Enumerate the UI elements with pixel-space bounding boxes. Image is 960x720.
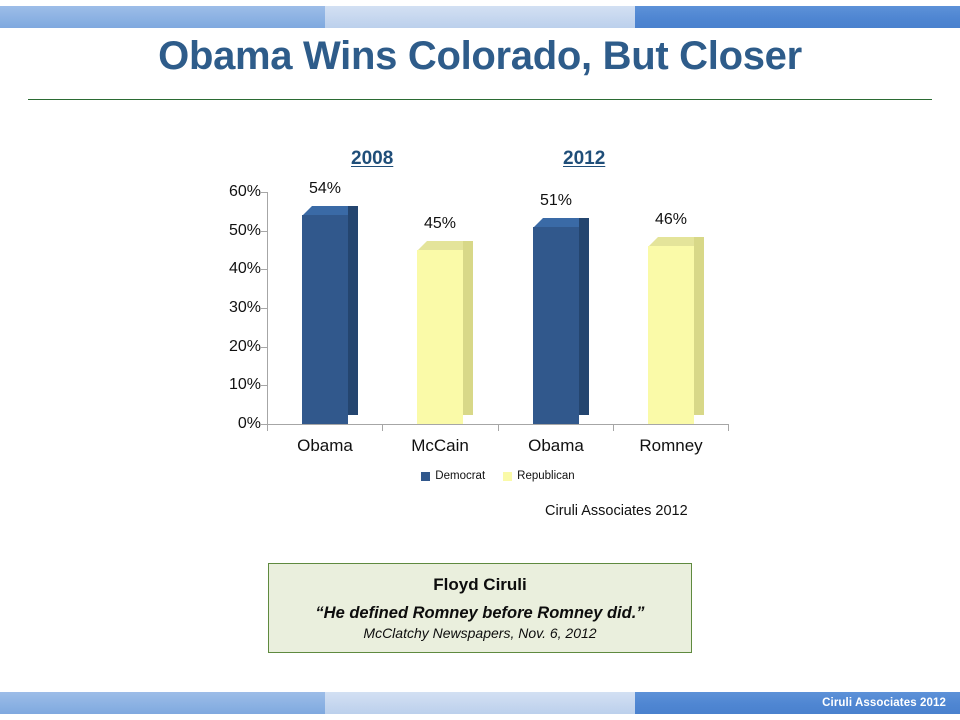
- x-axis-tick-1: [382, 424, 383, 431]
- legend-item-democrat: Democrat: [421, 470, 485, 482]
- bar-romney-2012: 46%: [648, 237, 694, 424]
- x-axis-tick-4: [728, 424, 729, 431]
- bar-front-face: [417, 250, 463, 424]
- legend-swatch-republican: [503, 472, 512, 481]
- y-tick-label-0: 0%: [238, 415, 261, 433]
- band-segment-pale-blue: [325, 692, 635, 714]
- x-label-obama-2008: Obama: [267, 436, 383, 456]
- x-axis-tick-3: [613, 424, 614, 431]
- quote-text: “He defined Romney before Romney did.”: [315, 604, 644, 623]
- page-title: Obama Wins Colorado, But Closer: [0, 34, 960, 79]
- group-label-2008: 2008: [351, 148, 393, 170]
- bar-side-face: [348, 206, 358, 415]
- chart-source-note: Ciruli Associates 2012: [545, 503, 688, 519]
- quote-attribution: McClatchy Newspapers, Nov. 6, 2012: [363, 625, 596, 641]
- bar-mccain-2008: 45%: [417, 241, 463, 424]
- chart-bars: 54% 45% 51% 46%: [267, 192, 729, 424]
- band-segment-pale-blue: [325, 6, 635, 28]
- band-segment-light-blue: [0, 692, 325, 714]
- x-axis-tick-2: [498, 424, 499, 431]
- bar-front-face: [302, 215, 348, 424]
- x-label-mccain: McCain: [382, 436, 498, 456]
- band-segment-dark-blue: Ciruli Associates 2012: [635, 692, 960, 714]
- bar-side-face: [694, 237, 704, 415]
- legend-swatch-democrat: [421, 472, 430, 481]
- bar-side-face: [463, 241, 473, 415]
- bottom-decorative-band: Ciruli Associates 2012: [0, 692, 960, 714]
- x-axis-tick-0: [267, 424, 268, 431]
- legend-item-republican: Republican: [503, 470, 575, 482]
- footer-credit: Ciruli Associates 2012: [822, 697, 960, 709]
- legend-label-democrat: Democrat: [435, 470, 485, 482]
- chart-legend: Democrat Republican: [267, 470, 729, 482]
- bar-obama-2008: 54%: [302, 206, 348, 424]
- band-segment-dark-blue: [635, 6, 960, 28]
- y-tick-label-10: 10%: [229, 376, 261, 394]
- y-tick-label-60: 60%: [229, 183, 261, 201]
- bar-value-label-1: 45%: [401, 215, 479, 233]
- bar-obama-2012: 51%: [533, 218, 579, 424]
- x-label-romney: Romney: [613, 436, 729, 456]
- bar-value-label-2: 51%: [517, 192, 595, 210]
- quote-author-name: Floyd Ciruli: [433, 575, 527, 595]
- y-axis-labels: 60% 50% 40% 30% 20% 10% 0%: [205, 192, 261, 424]
- bar-value-label-0: 54%: [286, 180, 364, 198]
- x-axis-labels: Obama McCain Obama Romney: [267, 436, 729, 462]
- legend-label-republican: Republican: [517, 470, 575, 482]
- bar-value-label-3: 46%: [632, 211, 710, 229]
- x-label-obama-2012: Obama: [498, 436, 614, 456]
- bar-chart: 2008 2012 60% 50% 40% 30% 20% 10% 0%: [205, 148, 745, 523]
- title-divider-rule: [28, 99, 932, 100]
- y-tick-label-30: 30%: [229, 299, 261, 317]
- group-label-2012: 2012: [563, 148, 605, 170]
- chart-plot-area: 60% 50% 40% 30% 20% 10% 0% 54%: [205, 192, 745, 475]
- band-segment-light-blue: [0, 6, 325, 28]
- top-decorative-band: [0, 6, 960, 28]
- y-tick-label-50: 50%: [229, 222, 261, 240]
- bar-front-face: [648, 246, 694, 424]
- y-tick-label-20: 20%: [229, 338, 261, 356]
- bar-front-face: [533, 227, 579, 424]
- y-tick-label-40: 40%: [229, 260, 261, 278]
- quote-callout-box: Floyd Ciruli “He defined Romney before R…: [268, 563, 692, 653]
- bar-side-face: [579, 218, 589, 415]
